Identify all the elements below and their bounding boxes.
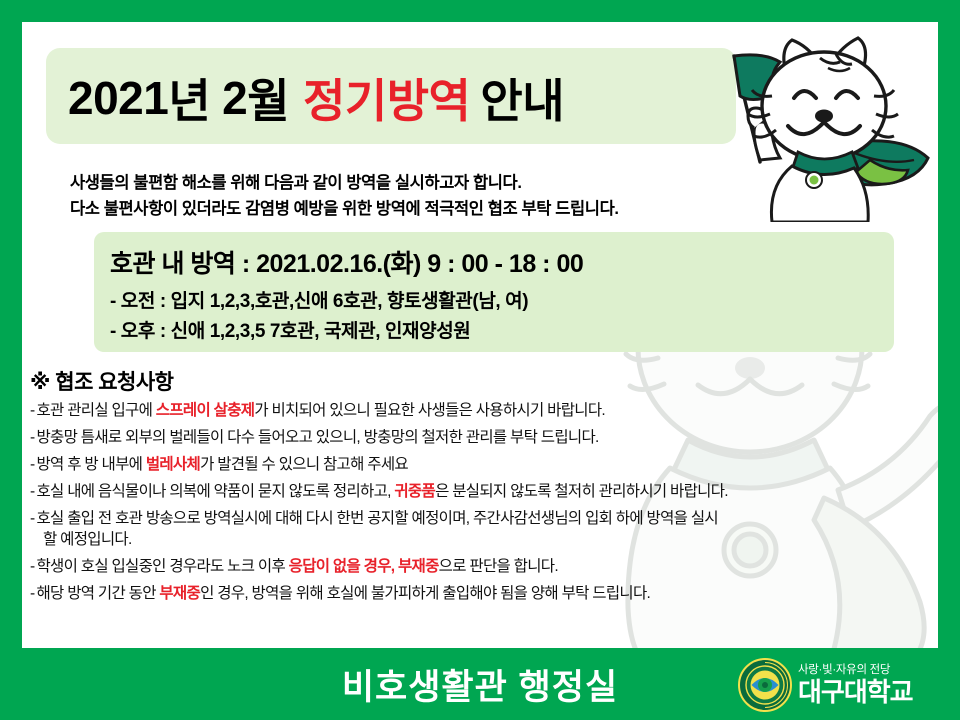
bullet-dash: - bbox=[30, 402, 34, 419]
schedule-morning: - 오전 : 입지 1,2,3,호관,신애 6호관, 향토생활관(남, 여) bbox=[110, 286, 528, 313]
bullet-pre: 방역 후 방 내부에 bbox=[36, 456, 145, 473]
bullet-highlight: 벌레사체 bbox=[146, 456, 200, 473]
bullet-highlight: 응답이 없을 경우, 부재중 bbox=[289, 558, 439, 575]
list-item: -호관 관리실 입구에 스프레이 살충제가 비치되어 있으니 필요한 사생들은 … bbox=[30, 400, 930, 421]
bullet-pre: 호실 출입 전 호관 방송으로 방역실시에 대해 다시 한번 공지할 예정이며,… bbox=[36, 510, 717, 527]
title-month-suffix: 월 bbox=[247, 65, 289, 131]
bullet-dash: - bbox=[30, 510, 34, 527]
poster-root: 2021년2월정기방역안내 bbox=[0, 0, 960, 720]
intro-line-2: 다소 불편사항이 있더라도 감염병 예방을 위한 방역에 적극적인 협조 부탁 … bbox=[70, 196, 890, 222]
bullet-post: 가 발견될 수 있으니 참고해 주세요 bbox=[200, 456, 408, 473]
bullet-dash: - bbox=[30, 456, 34, 473]
university-emblem-icon bbox=[738, 658, 792, 712]
university-name: 대구대학교 bbox=[798, 679, 913, 705]
bullet-pre: 호관 관리실 입구에 bbox=[36, 402, 155, 419]
intro-paragraph: 사생들의 불편함 해소를 위해 다음과 같이 방역을 실시하고자 합니다. 다소… bbox=[70, 170, 890, 222]
bullet-post: 가 비치되어 있으니 필요한 사생들은 사용하시기 바랍니다. bbox=[254, 402, 605, 419]
list-item: -해당 방역 기간 동안 부재중인 경우, 방역을 위해 호실에 불가피하게 출… bbox=[30, 583, 930, 604]
bullet-post: 인 경우, 방역을 위해 호실에 불가피하게 출입해야 됨을 양해 부탁 드립니… bbox=[200, 585, 650, 602]
poster-sheet: 2021년2월정기방역안내 bbox=[22, 22, 938, 648]
list-item: -학생이 호실 입실중인 경우라도 노크 이후 응답이 없을 경우, 부재중으로… bbox=[30, 556, 930, 577]
list-item: -방충망 틈새로 외부의 벌레들이 다수 들어오고 있으니, 방충망의 철저한 … bbox=[30, 427, 930, 448]
schedule-heading: 호관 내 방역 : 2021.02.16.(화) 9 : 00 - 18 : 0… bbox=[110, 244, 583, 280]
schedule-afternoon: - 오후 : 신애 1,2,3,5 7호관, 국제관, 인재양성원 bbox=[110, 316, 470, 343]
title-month: 2 bbox=[222, 71, 247, 125]
bullet-pre: 호실 내에 음식물이나 의복에 약품이 묻지 않도록 정리하고, bbox=[36, 483, 394, 500]
bullet-highlight: 귀중품 bbox=[394, 483, 435, 500]
bullet-pre: 방충망 틈새로 외부의 벌레들이 다수 들어오고 있으니, 방충망의 철저한 관… bbox=[36, 429, 598, 446]
intro-line-1: 사생들의 불편함 해소를 위해 다음과 같이 방역을 실시하고자 합니다. bbox=[70, 170, 890, 196]
bullet-dash: - bbox=[30, 483, 34, 500]
bullet-highlight: 부재중 bbox=[159, 585, 200, 602]
bullet-pre: 학생이 호실 입실중인 경우라도 노크 이후 bbox=[36, 558, 288, 575]
list-item: -방역 후 방 내부에 벌레사체가 발견될 수 있으니 참고해 주세요 bbox=[30, 454, 930, 475]
bullet-dash: - bbox=[30, 558, 34, 575]
university-signature: 사랑·빛·자유의 전당 대구대학교 bbox=[738, 654, 946, 716]
title-highlight: 정기방역 bbox=[303, 65, 470, 131]
list-item: -호실 내에 음식물이나 의복에 약품이 묻지 않도록 정리하고, 귀중품은 분… bbox=[30, 481, 930, 502]
list-item: -호실 출입 전 호관 방송으로 방역실시에 대해 다시 한번 공지할 예정이며… bbox=[30, 508, 930, 550]
footer-bar: 비호생활관 행정실 사랑·빛·자유의 전당 대구대학교 bbox=[0, 648, 960, 720]
university-text-block: 사랑·빛·자유의 전당 대구대학교 bbox=[798, 665, 913, 706]
title-tail: 안내 bbox=[480, 65, 564, 131]
university-tagline: 사랑·빛·자유의 전당 bbox=[798, 665, 913, 677]
cooperation-heading: ※ 협조 요청사항 bbox=[30, 366, 174, 396]
title-year-suffix: 년 bbox=[168, 65, 210, 131]
page-title: 2021년2월정기방역안내 bbox=[68, 58, 768, 138]
bullet-continuation: 할 예정입니다. bbox=[30, 529, 930, 550]
cooperation-list: -호관 관리실 입구에 스프레이 살충제가 비치되어 있으니 필요한 사생들은 … bbox=[30, 400, 930, 610]
bullet-post: 으로 판단을 합니다. bbox=[439, 558, 558, 575]
bullet-dash: - bbox=[30, 585, 34, 602]
bullet-dash: - bbox=[30, 429, 34, 446]
bullet-pre: 해당 방역 기간 동안 bbox=[36, 585, 159, 602]
bullet-highlight: 스프레이 살충제 bbox=[156, 402, 255, 419]
title-year: 2021 bbox=[68, 71, 168, 125]
bullet-post: 은 분실되지 않도록 철저히 관리하시기 바랍니다. bbox=[435, 483, 728, 500]
